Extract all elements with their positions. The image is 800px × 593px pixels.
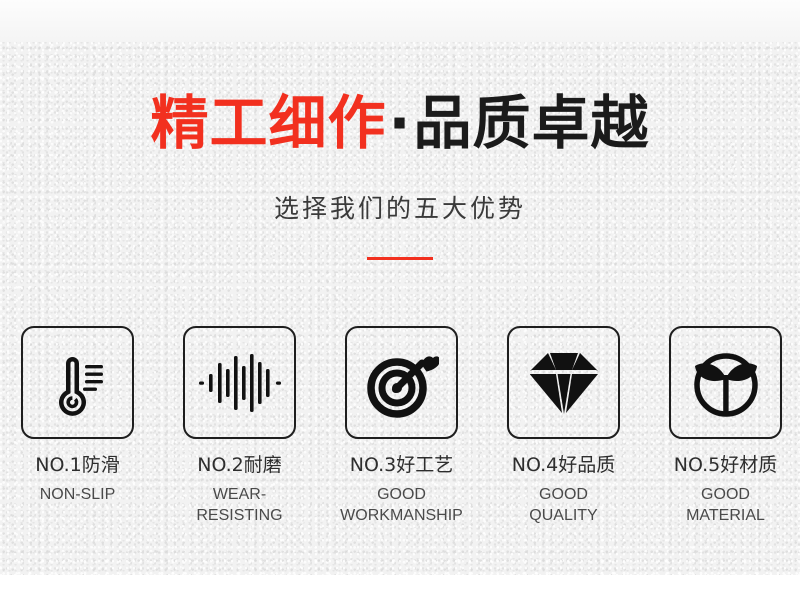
feature-title-1: NO.1防滑: [35, 455, 120, 477]
headline-red-text: 精工细作: [150, 89, 386, 157]
red-divider-line: [367, 257, 433, 260]
headline-black-text: 品质卓越: [414, 89, 650, 157]
diamond-icon: [526, 349, 602, 417]
feature-subtitle-1: NON-SLIP: [40, 484, 116, 506]
headline: 精工细作·品质卓越: [0, 94, 800, 152]
feature-title-3: NO.3好工艺: [350, 455, 454, 477]
icon-card-2: [183, 326, 296, 439]
target-dart-icon: [365, 346, 439, 420]
icon-card-3: [345, 326, 458, 439]
feature-title-4: NO.4好品质: [512, 455, 616, 477]
feature-title-2: NO.2耐磨: [197, 455, 282, 477]
icon-card-5: [669, 326, 782, 439]
feature-title-5: NO.5好材质: [674, 455, 778, 477]
subtitle: 选择我们的五大优势: [0, 196, 800, 221]
feature-item-1: NO.1防滑 NON-SLIP: [21, 326, 134, 527]
feature-item-3: NO.3好工艺 GOOD WORKMANSHIP: [345, 326, 458, 527]
waveform-icon: [198, 347, 282, 419]
icon-card-1: [21, 326, 134, 439]
feature-item-5: NO.5好材质 GOOD MATERIAL: [669, 326, 782, 527]
background-top-gradient: [0, 0, 800, 44]
feature-list: NO.1防滑 NON-SLIP: [0, 326, 800, 527]
feature-subtitle-3: GOOD WORKMANSHIP: [340, 484, 463, 527]
icon-card-4: [507, 326, 620, 439]
feature-item-4: NO.4好品质 GOOD QUALITY: [507, 326, 620, 527]
promo-banner: 精工细作·品质卓越 选择我们的五大优势: [0, 0, 800, 593]
sprout-icon: [688, 347, 764, 419]
thermometer-icon: [42, 347, 114, 419]
background-bottom-strip: [0, 575, 800, 593]
feature-subtitle-2: WEAR-RESISTING: [183, 484, 296, 527]
headline-separator-dot: ·: [388, 89, 411, 157]
feature-subtitle-4: GOOD QUALITY: [507, 484, 620, 527]
feature-item-2: NO.2耐磨 WEAR-RESISTING: [183, 326, 296, 527]
feature-subtitle-5: GOOD MATERIAL: [669, 484, 782, 527]
